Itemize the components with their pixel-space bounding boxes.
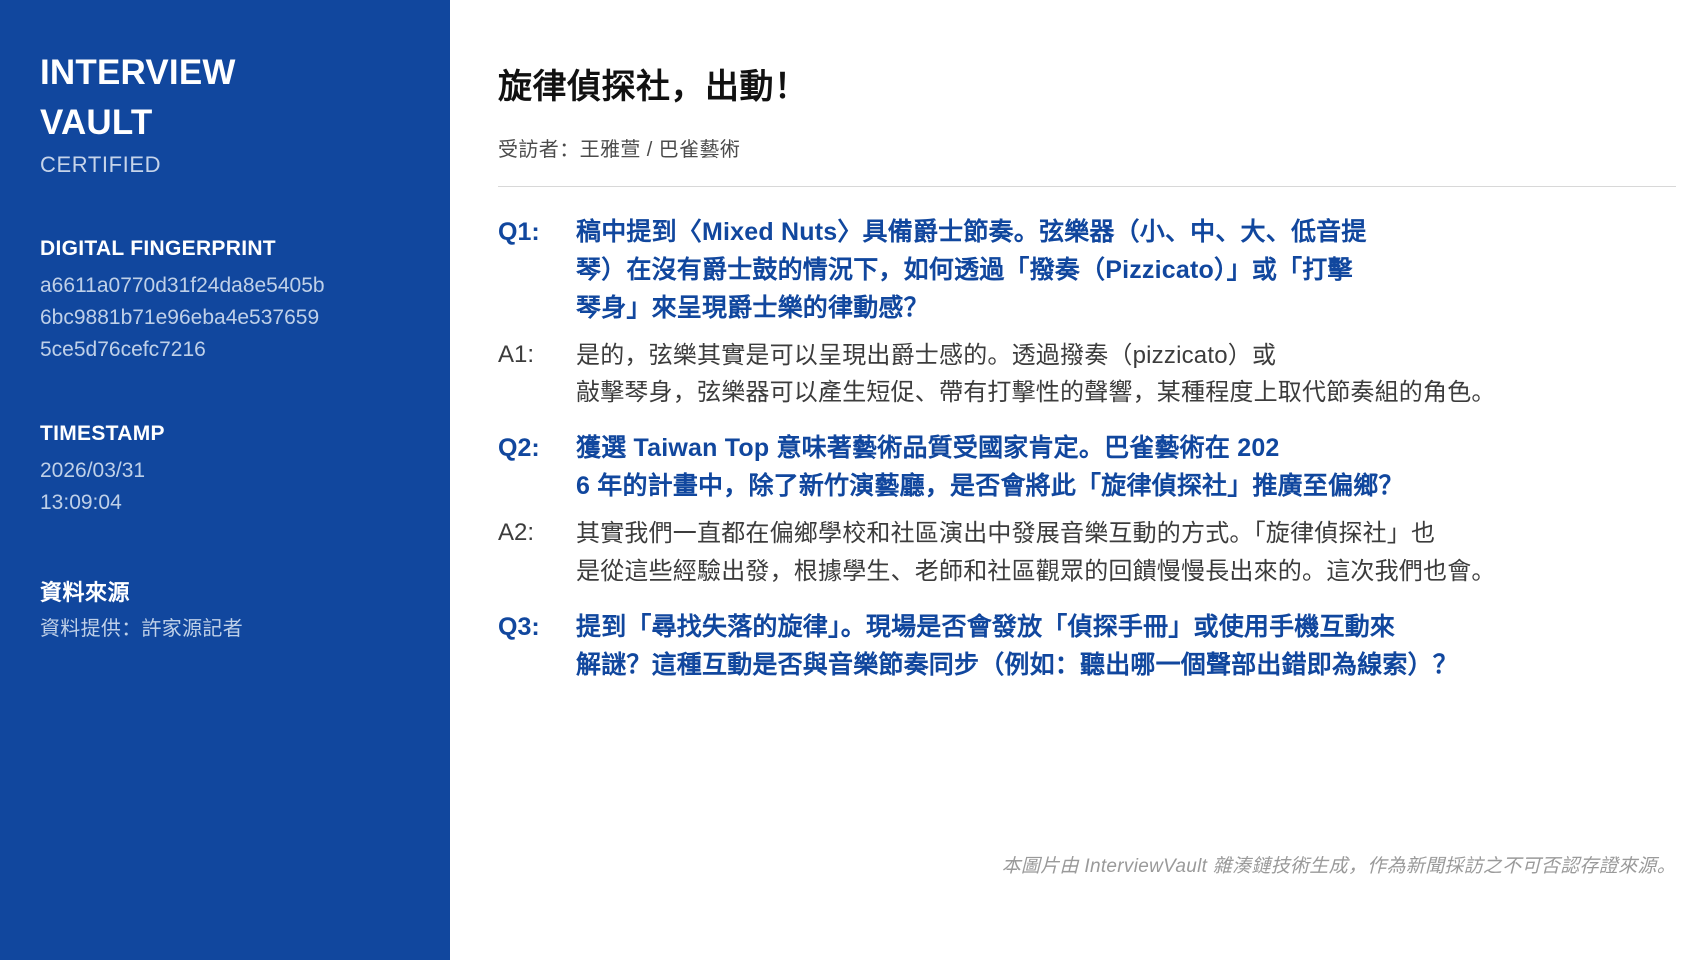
qa-text: 是的，弦樂其實是可以呈現出爵士感的。透過撥奏（pizzicato）或 敲擊琴身，… <box>576 337 1706 411</box>
qa-text: 獲選 Taiwan Top 意味著藝術品質受國家肯定。巴雀藝術在 202 6 年… <box>576 429 1706 505</box>
qa-question-row: Q2: 獲選 Taiwan Top 意味著藝術品質受國家肯定。巴雀藝術在 202… <box>498 429 1706 505</box>
page-title: 旋律偵探社，出動！ <box>498 65 1706 109</box>
qa-key: A2: <box>498 515 576 551</box>
timestamp-label: TIMESTAMP <box>40 422 410 446</box>
qa-question-row: Q1: 稿中提到〈Mixed Nuts〉具備爵士節奏。弦樂器（小、中、大、低音提… <box>498 213 1706 327</box>
source-value: 資料提供：許家源記者 <box>40 614 410 644</box>
qa-key: A1: <box>498 337 576 373</box>
timestamp-section: TIMESTAMP 2026/03/31 13:09:04 <box>40 422 410 519</box>
qa-question-row: Q3: 提到「尋找失落的旋律」。現場是否會發放「偵探手冊」或使用手機互動來 解謎… <box>498 608 1706 684</box>
qa-key: Q2: <box>498 429 576 467</box>
qa-text: 稿中提到〈Mixed Nuts〉具備爵士節奏。弦樂器（小、中、大、低音提 琴）在… <box>576 213 1706 327</box>
interviewee-line: 受訪者：王雅萱 / 巴雀藝術 <box>498 133 1706 162</box>
brand-line-1: INTERVIEW <box>40 48 410 98</box>
brand-certified-label: CERTIFIED <box>40 148 410 181</box>
timestamp-time: 13:09:04 <box>40 487 330 519</box>
qa-text: 提到「尋找失落的旋律」。現場是否會發放「偵探手冊」或使用手機互動來 解謎？這種互… <box>576 608 1706 684</box>
qa-text: 其實我們一直都在偏鄉學校和社區演出中發展音樂互動的方式。「旋律偵探社」也 是從這… <box>576 515 1706 589</box>
qa-key: Q1: <box>498 213 576 251</box>
qa-key: Q3: <box>498 608 576 646</box>
main-content: 旋律偵探社，出動！ 受訪者：王雅萱 / 巴雀藝術 Q1: 稿中提到〈Mixed … <box>450 0 1706 960</box>
qa-answer-row: A2: 其實我們一直都在偏鄉學校和社區演出中發展音樂互動的方式。「旋律偵探社」也… <box>498 515 1706 589</box>
timestamp-value: 2026/03/31 13:09:04 <box>40 455 330 519</box>
brand-line-2: VAULT <box>40 98 410 148</box>
footer-note: 本圖片由 InterviewVault 雜湊鏈技術生成，作為新聞採訪之不可否認存… <box>1002 851 1676 878</box>
source-label: 資料來源 <box>40 575 410 607</box>
interview-vault-page: INTERVIEW VAULT CERTIFIED DIGITAL FINGER… <box>0 0 1706 960</box>
digital-fingerprint-label: DIGITAL FINGERPRINT <box>40 237 410 261</box>
source-section: 資料來源 資料提供：許家源記者 <box>40 575 410 644</box>
brand-block: INTERVIEW VAULT CERTIFIED <box>40 48 410 181</box>
header-divider <box>498 186 1676 187</box>
qa-list: Q1: 稿中提到〈Mixed Nuts〉具備爵士節奏。弦樂器（小、中、大、低音提… <box>498 213 1706 684</box>
digital-fingerprint-section: DIGITAL FINGERPRINT a6611a0770d31f24da8e… <box>40 237 410 366</box>
timestamp-date: 2026/03/31 <box>40 455 330 487</box>
digital-fingerprint-value: a6611a0770d31f24da8e5405b6bc9881b71e96eb… <box>40 270 330 366</box>
qa-answer-row: A1: 是的，弦樂其實是可以呈現出爵士感的。透過撥奏（pizzicato）或 敲… <box>498 337 1706 411</box>
sidebar: INTERVIEW VAULT CERTIFIED DIGITAL FINGER… <box>0 0 450 960</box>
